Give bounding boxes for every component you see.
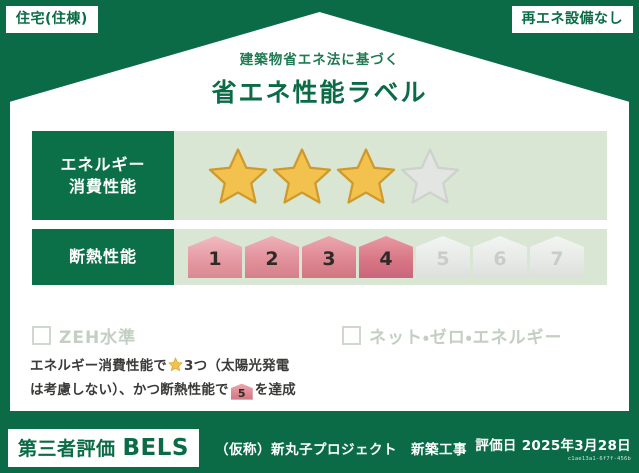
evaluation-date-value: 2025年3月28日	[522, 438, 631, 454]
check-label-zeh: ZEH水準	[59, 323, 136, 348]
insulation-grade-3: 3	[302, 236, 356, 278]
renewable-energy-badge: 再エネ設備なし	[512, 6, 634, 33]
title-block: 建築物省エネ法に基づく 省エネ性能ラベル	[0, 48, 639, 109]
insulation-grade-6: 6	[473, 236, 527, 278]
inline-grade-badge: 5	[231, 384, 253, 400]
insulation-grade-number: 5	[436, 250, 449, 278]
footer-bar: 第三者評価 BELS （仮称）新丸子プロジェクト 新築工事 評価日 2025年3…	[0, 423, 639, 473]
insulation-performance-label: 断熱性能	[32, 229, 174, 285]
energy-performance-row: エネルギー 消費性能	[32, 131, 607, 220]
checkbox-unchecked-icon	[32, 326, 51, 345]
evaluation-date-block: 評価日 2025年3月28日 c1ae13a1-6f7f-456b	[475, 434, 631, 462]
check-label-net-zero: ネット・ゼロ・エネルギー	[369, 323, 563, 348]
building-type-badge: 住宅(住棟)	[6, 6, 98, 33]
star-filled-icon	[336, 146, 396, 206]
insulation-grade-number: 2	[265, 250, 278, 278]
certification-checks: ZEH水準 ネット・ゼロ・エネルギー	[32, 323, 607, 348]
energy-performance-value	[174, 131, 607, 220]
certificate-id-code: c1ae13a1-6f7f-456b	[475, 456, 631, 462]
insulation-grade-number: 6	[493, 250, 506, 278]
star-filled-icon	[272, 146, 332, 206]
insulation-grade-1: 1	[188, 236, 242, 278]
bels-english-text: BELS	[123, 435, 189, 461]
insulation-performance-value: 1234567	[174, 229, 607, 285]
energy-performance-label: 住宅(住棟) 再エネ設備なし 建築物省エネ法に基づく 省エネ性能ラベル エネルギ…	[0, 0, 639, 473]
desc-part1: エネルギー消費性能で	[30, 358, 167, 374]
evaluation-date-label: 評価日	[475, 438, 516, 454]
insulation-grade-number: 1	[208, 250, 221, 278]
title-subtitle: 建築物省エネ法に基づく	[0, 48, 639, 68]
insulation-grade-4: 4	[359, 236, 413, 278]
project-name: （仮称）新丸子プロジェクト 新築工事	[215, 438, 467, 458]
check-item-net-zero: ネット・ゼロ・エネルギー	[342, 323, 563, 348]
check-item-zeh: ZEH水準	[32, 323, 342, 348]
insulation-grade-scale: 1234567	[184, 236, 584, 278]
desc-part3: は考慮しない）、かつ断熱性能で	[30, 382, 229, 398]
star-rating	[184, 146, 460, 206]
insulation-grade-5: 5	[416, 236, 470, 278]
star-filled-icon	[208, 146, 268, 206]
insulation-grade-7: 7	[530, 236, 584, 278]
insulation-grade-2: 2	[245, 236, 299, 278]
energy-label-line2: 消費性能	[60, 176, 145, 197]
checkbox-unchecked-icon	[342, 326, 361, 345]
title-main: 省エネ性能ラベル	[0, 73, 639, 109]
achievement-description: エネルギー消費性能で3つ（太陽光発電は考慮しない）、かつ断熱性能で5を達成	[30, 355, 609, 402]
insulation-label-text: 断熱性能	[69, 246, 137, 267]
performance-rows: エネルギー 消費性能 断熱性能 1234567	[32, 131, 607, 294]
star-empty-icon	[400, 146, 460, 206]
bels-japanese-text: 第三者評価	[18, 434, 116, 461]
insulation-performance-row: 断熱性能 1234567	[32, 229, 607, 285]
bels-certification-badge: 第三者評価 BELS	[8, 429, 199, 467]
desc-part2: 3つ（太陽光発電	[184, 358, 290, 374]
desc-part4: を達成	[255, 382, 296, 398]
insulation-grade-number: 3	[322, 250, 335, 278]
insulation-grade-number: 7	[550, 250, 563, 278]
evaluation-date: 評価日 2025年3月28日	[475, 434, 631, 454]
energy-label-line1: エネルギー	[60, 154, 145, 175]
energy-performance-label: エネルギー 消費性能	[32, 131, 174, 220]
star-icon	[168, 357, 183, 372]
insulation-grade-number: 4	[379, 250, 392, 278]
